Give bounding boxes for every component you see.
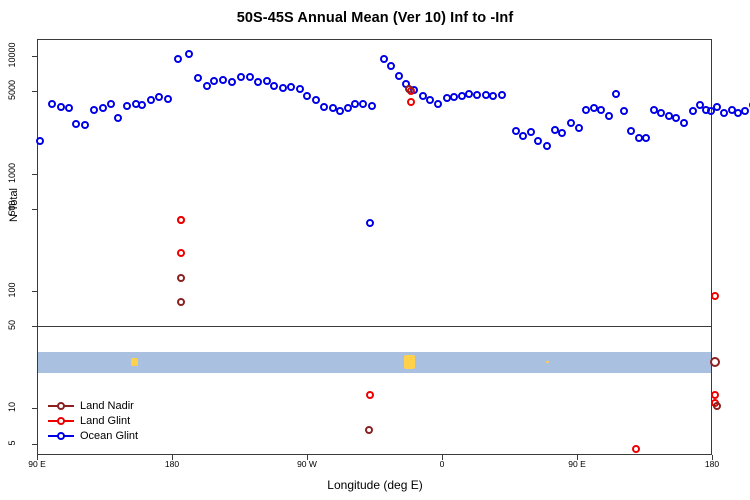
data-point-ocean — [575, 124, 583, 132]
data-point-ocean — [489, 92, 497, 100]
data-point-ocean — [582, 106, 590, 114]
data-point-ocean — [359, 100, 367, 108]
data-point-ocean — [263, 77, 271, 85]
yellow-marker — [404, 355, 415, 369]
x-tick-label: 90 E — [557, 459, 597, 469]
data-point-ocean — [672, 114, 680, 122]
data-point-ocean — [527, 128, 535, 136]
legend-label-land-nadir: Land Nadir — [80, 400, 134, 412]
data-point-ocean — [519, 132, 527, 140]
y-tick-label: 10 — [7, 387, 17, 427]
data-point-land-nadir-band — [710, 357, 720, 367]
y-tick-label: 5 — [7, 423, 17, 463]
data-point-ocean — [246, 73, 254, 81]
x-tick-label: 90 W — [287, 459, 327, 469]
legend-swatch-land-glint — [48, 420, 74, 422]
legend-item-land-nadir[interactable]: Land Nadir — [48, 398, 138, 413]
data-point-ocean — [741, 107, 749, 115]
data-point-landglint — [711, 292, 719, 300]
y-tick-label: 50 — [7, 305, 17, 345]
data-point-ocean — [164, 95, 172, 103]
legend-label-land-glint: Land Glint — [80, 415, 130, 427]
data-point-landglint — [366, 391, 374, 399]
data-point-ocean — [185, 50, 193, 58]
data-point-ocean — [534, 137, 542, 145]
x-tick-label: 180 — [152, 459, 192, 469]
data-point-ocean — [567, 119, 575, 127]
data-point-ocean — [57, 103, 65, 111]
data-point-ocean — [380, 55, 388, 63]
data-point-ocean — [366, 219, 374, 227]
yellow-marker — [131, 358, 138, 366]
data-point-landglint — [632, 445, 640, 453]
page-title: 50S-45S Annual Mean (Ver 10) Inf to -Inf — [0, 10, 750, 26]
data-point-landnadir — [177, 274, 185, 282]
chart-root: 50S-45S Annual Mean (Ver 10) Inf to -Inf… — [0, 0, 750, 500]
data-point-ocean — [219, 76, 227, 84]
legend-swatch-ocean-glint — [48, 435, 74, 437]
data-point-ocean — [498, 91, 506, 99]
data-point-landnadir — [405, 85, 413, 93]
data-point-landnadir — [713, 402, 721, 410]
data-point-ocean — [689, 107, 697, 115]
data-point-ocean — [65, 104, 73, 112]
data-point-ocean — [657, 109, 665, 117]
x-tick-label: 0 — [422, 459, 462, 469]
data-point-ocean — [36, 137, 44, 145]
yellow-marker — [546, 361, 549, 363]
data-point-ocean — [620, 107, 628, 115]
data-point-ocean — [303, 92, 311, 100]
legend-swatch-land-nadir — [48, 405, 74, 407]
data-point-ocean — [720, 109, 728, 117]
data-point-ocean — [434, 100, 442, 108]
y-tick-label: 100 — [7, 270, 17, 310]
x-tick-label: 90 E — [17, 459, 57, 469]
x-tick-label: 180 — [692, 459, 732, 469]
data-point-ocean — [450, 93, 458, 101]
legend: Land Nadir Land Glint Ocean Glint — [48, 398, 138, 443]
data-point-ocean — [270, 82, 278, 90]
data-point-landglint — [407, 98, 415, 106]
data-point-ocean — [465, 90, 473, 98]
data-point-ocean — [368, 102, 376, 110]
data-point-ocean — [320, 103, 328, 111]
y-tick-label: 1000 — [7, 153, 17, 193]
x-axis-title: Longitude (deg E) — [0, 478, 750, 492]
legend-label-ocean-glint: Ocean Glint — [80, 430, 138, 442]
data-point-ocean — [254, 78, 262, 86]
data-point-ocean — [72, 120, 80, 128]
data-point-ocean — [680, 119, 688, 127]
data-point-ocean — [605, 112, 613, 120]
data-point-landglint — [711, 391, 719, 399]
data-point-ocean — [279, 84, 287, 92]
legend-item-land-glint[interactable]: Land Glint — [48, 413, 138, 428]
data-point-ocean — [107, 100, 115, 108]
data-point-ocean — [627, 127, 635, 135]
data-point-ocean — [612, 90, 620, 98]
data-point-ocean — [81, 121, 89, 129]
legend-item-ocean-glint[interactable]: Ocean Glint — [48, 428, 138, 443]
y-tick-label: 500 — [7, 188, 17, 228]
data-point-ocean — [194, 74, 202, 82]
reference-line-50 — [37, 326, 712, 327]
data-point-ocean — [395, 72, 403, 80]
y-tick-label: 5000 — [7, 70, 17, 110]
data-point-ocean — [713, 103, 721, 111]
data-point-ocean — [287, 83, 295, 91]
data-point-landnadir — [365, 426, 373, 434]
shaded-band — [38, 352, 711, 373]
data-point-ocean — [473, 91, 481, 99]
data-point-ocean — [155, 93, 163, 101]
data-point-ocean — [203, 82, 211, 90]
data-point-ocean — [114, 114, 122, 122]
